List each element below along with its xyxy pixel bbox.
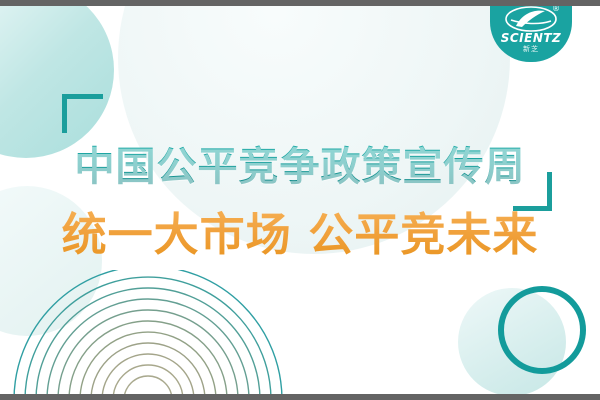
promo-banner: 中国公平竞争政策宣传周 统一大市场 公平竞未来 ® SCIENTZ 新芝 — [0, 0, 600, 400]
logo-subtext: 新芝 — [490, 44, 572, 54]
headline-primary: 中国公平竞争政策宣传周 — [0, 140, 600, 194]
window-chrome-top — [0, 0, 600, 6]
concentric-arc-fan — [0, 270, 300, 400]
brand-logo[interactable]: ® SCIENTZ 新芝 — [490, 0, 572, 62]
logo-wordmark: SCIENTZ — [490, 31, 572, 45]
headline-secondary: 统一大市场 公平竞未来 — [0, 206, 600, 264]
headline-block: 中国公平竞争政策宣传周 统一大市场 公平竞未来 — [0, 140, 600, 264]
corner-bracket-top-left-icon — [62, 94, 103, 133]
window-chrome-bottom — [0, 394, 600, 400]
swoosh-icon — [503, 6, 559, 32]
circle-bottom-right-ring-decor — [498, 286, 586, 374]
circle-top-left-decor — [0, 0, 114, 158]
